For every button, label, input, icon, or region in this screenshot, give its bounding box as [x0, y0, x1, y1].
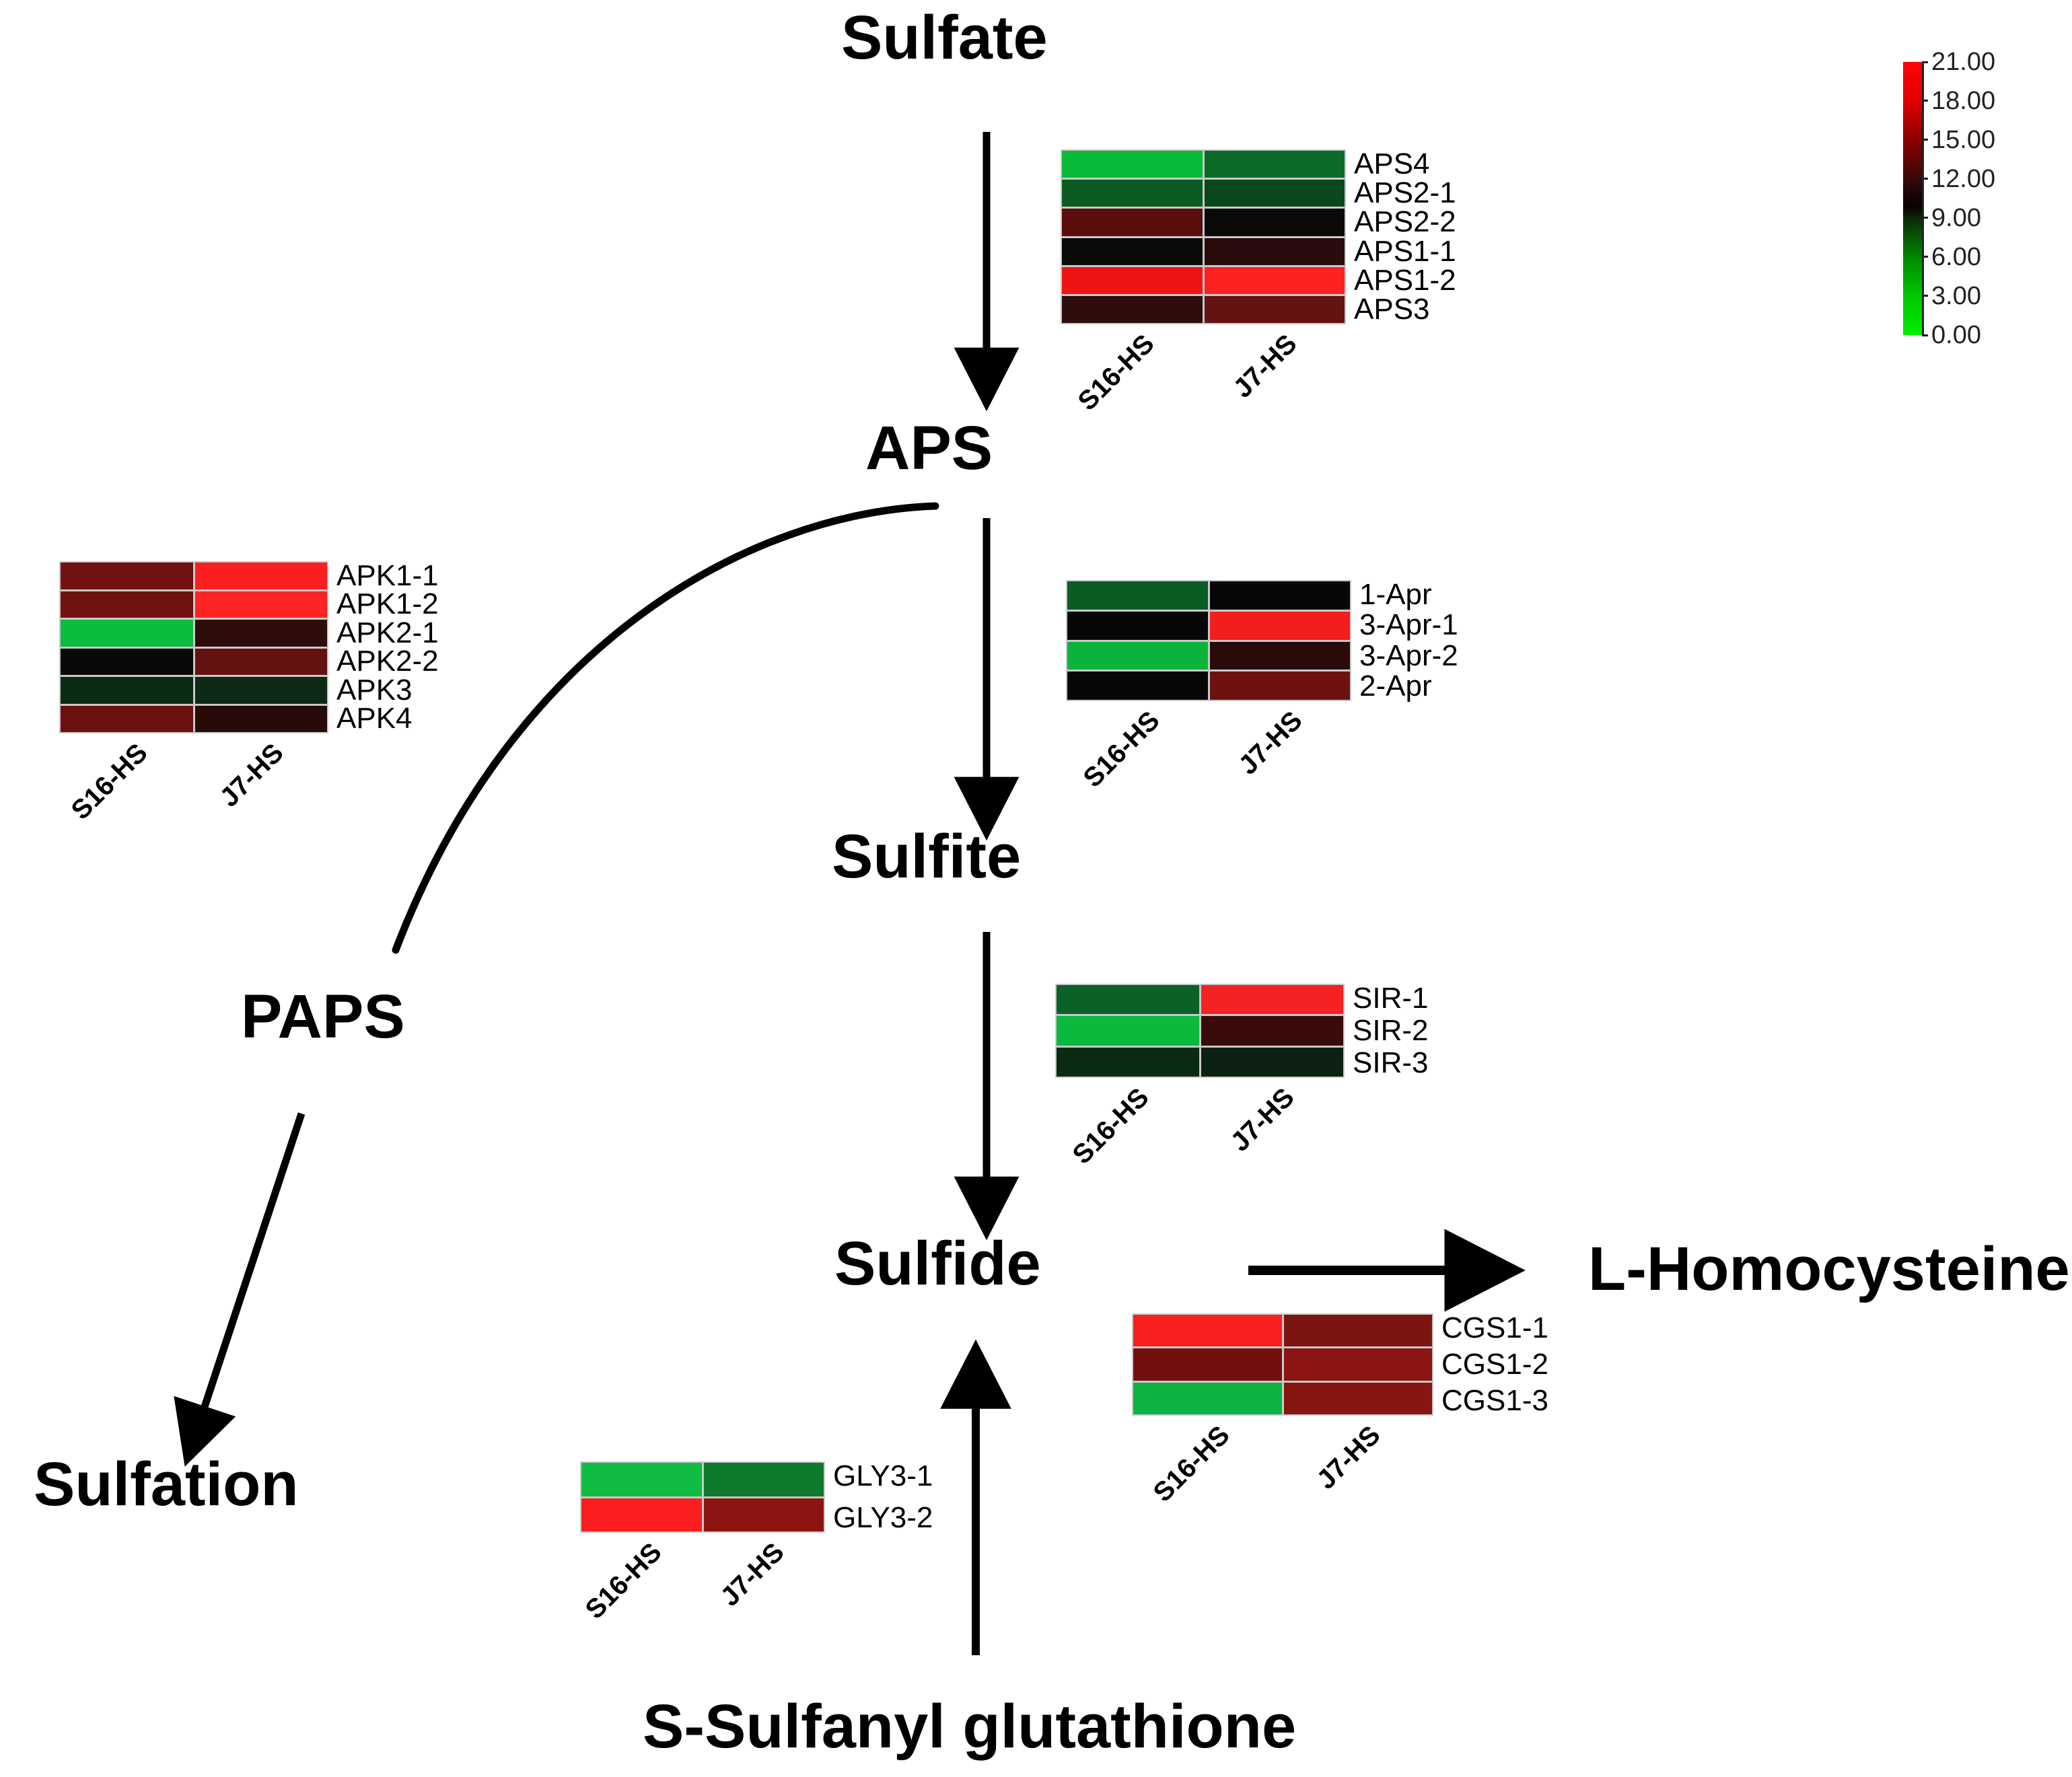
table-row — [61, 563, 327, 589]
heatmap-cell — [195, 591, 328, 618]
colorbar-tick-3: 3.00 — [1922, 283, 1981, 309]
heatmap-cell — [1062, 180, 1203, 207]
tick-mark-icon — [1922, 139, 1928, 141]
arrow-paps-to-sulfation — [199, 1114, 301, 1423]
heatmap-row-label: APK2-2 — [336, 648, 439, 675]
table-row — [1133, 1315, 1432, 1346]
table-row — [1062, 209, 1345, 235]
cgs1-heatmap-row-labels: CGS1-1 CGS1-2 CGS1-3 — [1433, 1315, 1548, 1414]
colorbar-gradient — [1903, 62, 1922, 335]
colorbar-tick-label: 21.00 — [1928, 49, 1995, 75]
tick-mark-icon — [1922, 61, 1928, 63]
heatmap-cell — [1205, 151, 1345, 178]
heatmap-row-label: SIR-1 — [1353, 985, 1428, 1012]
heatmap-col-label: S16-HS — [1068, 1083, 1153, 1169]
table-row — [1062, 238, 1345, 265]
table-row — [581, 1498, 824, 1532]
table-row — [1062, 180, 1345, 207]
heatmap-cell — [1057, 1016, 1199, 1045]
colorbar-tick-18: 18.00 — [1922, 88, 1995, 114]
node-label-l-homocysteine: L-Homocysteine — [1588, 1238, 2070, 1300]
node-label-sulfite: Sulfite — [832, 826, 1021, 887]
colorbar-legend: 21.00 18.00 15.00 12.00 9.00 6.00 3.00 — [1903, 62, 2038, 335]
heatmap-row-label: SIR-2 — [1353, 1017, 1428, 1044]
heatmap-row-label: 1-Apr — [1359, 581, 1458, 608]
node-label-sulfation: Sulfation — [34, 1453, 299, 1515]
heatmap-col-label: S16-HS — [1073, 330, 1159, 415]
apk-heatmap-grid: APK1-1 APK1-2 APK2-1 APK2-2 APK3 APK4 S1… — [59, 561, 328, 733]
table-row — [1067, 672, 1350, 700]
node-label-s-sulfanyl-glutathione: S-Sulfanyl glutathione — [643, 1696, 1296, 1757]
colorbar-tick-label: 12.00 — [1928, 166, 1995, 192]
apr-heatmap-row-labels: 1-Apr 3-Apr-1 3-Apr-2 2-Apr — [1351, 581, 1458, 700]
table-row — [1067, 642, 1350, 670]
heatmap-cell — [195, 706, 328, 733]
heatmap-row-label: 2-Apr — [1359, 673, 1458, 700]
colorbar-tick-15: 15.00 — [1922, 127, 1995, 153]
colorbar-tick-21: 21.00 — [1922, 49, 1995, 75]
heatmap-row-label: CGS1-1 — [1441, 1315, 1548, 1342]
colorbar-tick-label: 3.00 — [1928, 283, 1981, 309]
heatmap-row-label: APS2-1 — [1354, 180, 1456, 207]
table-row — [1067, 581, 1350, 610]
heatmap-col-label: J7-HS — [1226, 1083, 1299, 1156]
heatmap-cell — [61, 591, 193, 618]
heatmap-cell — [1205, 209, 1345, 235]
heatmap-cell — [61, 563, 193, 589]
heatmap-cell — [195, 563, 328, 589]
heatmap-cell — [1205, 238, 1345, 265]
heatmap-cell — [1133, 1315, 1282, 1346]
colorbar-tick-0: 0.00 — [1922, 322, 1981, 348]
gly3-heatmap: GLY3-1 GLY3-2 S16-HS J7-HS — [580, 1461, 825, 1533]
colorbar-tick-12: 12.00 — [1922, 166, 1995, 192]
colorbar-tick-label: 6.00 — [1928, 244, 1981, 270]
apk-heatmap: APK1-1 APK1-2 APK2-1 APK2-2 APK3 APK4 S1… — [59, 561, 328, 733]
heatmap-row-label: CGS1-3 — [1441, 1387, 1548, 1414]
pathway-arrows-layer — [0, 0, 2072, 1777]
heatmap-cell — [1067, 581, 1208, 610]
aps-heatmap-grid: APS4 APS2-1 APS2-2 APS1-1 APS1-2 APS3 S1… — [1061, 149, 1346, 324]
heatmap-row-label: APK2-1 — [336, 620, 439, 647]
table-row — [1133, 1383, 1432, 1414]
colorbar-tick-9: 9.00 — [1922, 205, 1981, 231]
heatmap-col-label: J7-HS — [1229, 330, 1301, 402]
heatmap-cell — [1284, 1348, 1433, 1380]
heatmap-cell — [1067, 672, 1208, 700]
table-row — [61, 620, 327, 647]
heatmap-col-label: J7-HS — [215, 739, 288, 811]
cgs1-heatmap-grid: CGS1-1 CGS1-2 CGS1-3 S16-HS J7-HS — [1132, 1313, 1433, 1416]
heatmap-row-label: GLY3-2 — [833, 1504, 933, 1531]
tick-mark-icon — [1922, 295, 1928, 297]
cgs1-heatmap: CGS1-1 CGS1-2 CGS1-3 S16-HS J7-HS — [1132, 1313, 1433, 1416]
heatmap-row-label: APS1-2 — [1354, 267, 1456, 294]
heatmap-cell — [1201, 1048, 1344, 1077]
heatmap-row-label: CGS1-2 — [1441, 1351, 1548, 1378]
tick-mark-icon — [1922, 334, 1928, 336]
heatmap-cell — [195, 649, 328, 676]
heatmap-row-label: APK3 — [336, 677, 439, 704]
figure-canvas: Sulfate APS PAPS Sulfite Sulfide Sulfati… — [0, 0, 2072, 1777]
heatmap-row-label: GLY3-1 — [833, 1463, 933, 1490]
table-row — [1057, 985, 1343, 1014]
heatmap-col-label: S16-HS — [1079, 706, 1164, 792]
heatmap-cell — [61, 620, 193, 647]
heatmap-cell — [1210, 612, 1351, 640]
tick-mark-icon — [1922, 178, 1928, 180]
heatmap-row-label: 3-Apr-1 — [1359, 612, 1458, 639]
heatmap-cell — [1062, 267, 1203, 294]
heatmap-cell — [1205, 267, 1345, 294]
heatmap-col-label: S16-HS — [67, 739, 152, 824]
heatmap-col-label: S16-HS — [581, 1538, 666, 1624]
table-row — [1062, 296, 1345, 323]
heatmap-cell — [1057, 985, 1199, 1014]
heatmap-cell — [1062, 296, 1203, 323]
heatmap-cell — [1205, 296, 1345, 323]
tick-mark-icon — [1922, 217, 1928, 219]
heatmap-cell — [195, 677, 328, 704]
table-row — [61, 649, 327, 676]
node-label-sulfide: Sulfide — [834, 1233, 1041, 1295]
heatmap-cell — [1057, 1048, 1199, 1077]
colorbar-tick-label: 15.00 — [1928, 127, 1995, 153]
heatmap-cell — [1067, 612, 1208, 640]
heatmap-cell — [1133, 1383, 1282, 1414]
table-row — [1133, 1348, 1432, 1380]
heatmap-cell — [195, 620, 328, 647]
table-row — [1062, 151, 1345, 178]
table-row — [1057, 1016, 1343, 1045]
table-row — [1067, 612, 1350, 640]
heatmap-row-label: APK1-2 — [336, 591, 439, 618]
aps-heatmap: APS4 APS2-1 APS2-2 APS1-1 APS1-2 APS3 S1… — [1061, 149, 1346, 324]
heatmap-cell — [704, 1498, 824, 1532]
colorbar-tick-label: 0.00 — [1928, 322, 1981, 348]
heatmap-row-label: APK1-1 — [336, 563, 439, 589]
sir-heatmap-row-labels: SIR-1 SIR-2 SIR-3 — [1345, 985, 1428, 1077]
heatmap-cell — [1201, 985, 1344, 1014]
node-label-paps: PAPS — [241, 986, 405, 1048]
table-row — [1062, 267, 1345, 294]
heatmap-row-label: SIR-3 — [1353, 1050, 1428, 1077]
node-label-aps: APS — [865, 417, 993, 479]
heatmap-cell — [1210, 672, 1351, 700]
table-row — [61, 706, 327, 733]
table-row — [1057, 1048, 1343, 1077]
heatmap-cell — [1067, 642, 1208, 670]
heatmap-cell — [1210, 642, 1351, 670]
heatmap-cell — [581, 1498, 702, 1532]
heatmap-cell — [581, 1463, 702, 1496]
heatmap-row-label: APS1-1 — [1354, 238, 1456, 265]
heatmap-row-label: 3-Apr-2 — [1359, 643, 1458, 669]
heatmap-cell — [1062, 209, 1203, 235]
heatmap-cell — [1062, 151, 1203, 178]
heatmap-row-label: APK4 — [336, 705, 439, 732]
colorbar-tick-6: 6.00 — [1922, 244, 1981, 270]
heatmap-cell — [1133, 1348, 1282, 1380]
heatmap-row-label: APS3 — [1354, 296, 1456, 323]
node-label-sulfate: Sulfate — [841, 7, 1048, 69]
heatmap-cell — [1201, 1016, 1344, 1045]
heatmap-col-label: J7-HS — [1312, 1421, 1385, 1494]
colorbar-tick-label: 18.00 — [1928, 88, 1995, 114]
heatmap-row-label: APS2-2 — [1354, 209, 1456, 235]
heatmap-cell — [1284, 1383, 1433, 1414]
table-row — [581, 1463, 824, 1496]
table-row — [61, 591, 327, 618]
heatmap-row-label: APS4 — [1354, 151, 1456, 178]
gly3-heatmap-row-labels: GLY3-1 GLY3-2 — [825, 1463, 933, 1531]
apr-heatmap: 1-Apr 3-Apr-1 3-Apr-2 2-Apr S16-HS J7-HS — [1066, 580, 1351, 701]
heatmap-cell — [61, 677, 193, 704]
heatmap-cell — [1205, 180, 1345, 207]
heatmap-cell — [704, 1463, 824, 1496]
tick-mark-icon — [1922, 100, 1928, 102]
heatmap-cell — [61, 706, 193, 733]
sir-heatmap-grid: SIR-1 SIR-2 SIR-3 S16-HS J7-HS — [1055, 984, 1345, 1078]
apr-heatmap-grid: 1-Apr 3-Apr-1 3-Apr-2 2-Apr S16-HS J7-HS — [1066, 580, 1351, 701]
heatmap-cell — [1284, 1315, 1433, 1346]
heatmap-col-label: J7-HS — [716, 1538, 789, 1611]
heatmap-col-label: S16-HS — [1149, 1421, 1234, 1507]
apk-heatmap-row-labels: APK1-1 APK1-2 APK2-1 APK2-2 APK3 APK4 — [328, 563, 439, 732]
aps-heatmap-row-labels: APS4 APS2-1 APS2-2 APS1-1 APS1-2 APS3 — [1346, 151, 1456, 323]
tick-mark-icon — [1922, 256, 1928, 258]
sir-heatmap: SIR-1 SIR-2 SIR-3 S16-HS J7-HS — [1055, 984, 1345, 1078]
heatmap-col-label: J7-HS — [1234, 706, 1307, 779]
heatmap-cell — [61, 649, 193, 676]
colorbar-tick-label: 9.00 — [1928, 205, 1981, 231]
heatmap-cell — [1062, 238, 1203, 265]
table-row — [61, 677, 327, 704]
heatmap-cell — [1210, 581, 1351, 610]
gly3-heatmap-grid: GLY3-1 GLY3-2 S16-HS J7-HS — [580, 1461, 825, 1533]
